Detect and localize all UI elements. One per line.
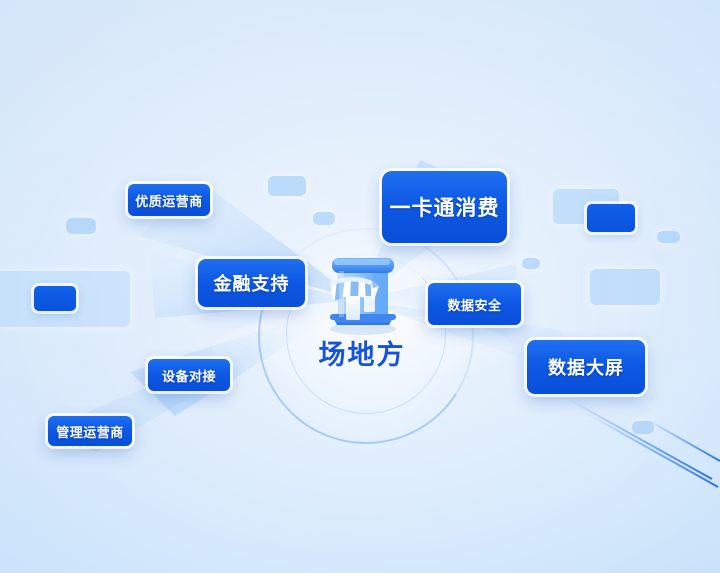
shop-icon — [316, 244, 408, 336]
infographic-canvas: 场地方 一卡通消费 金融支持 数据大屏 数据安全 优质运营商 设备对接 管理运营… — [0, 0, 720, 573]
card-label: 金融支持 — [214, 270, 290, 296]
card-label: 数据大屏 — [548, 354, 624, 380]
card-shuju-anquan[interactable]: 数据安全 — [428, 283, 521, 325]
decorative-rect-bottom-right — [632, 421, 654, 434]
center-label: 场地方 — [296, 333, 428, 372]
card-youzhi-yunyingshang[interactable]: 优质运营商 — [128, 184, 210, 216]
card-yikatong-xiaofei[interactable]: 一卡通消费 — [382, 171, 507, 243]
decorative-rect-mid-center — [313, 212, 335, 225]
card-label: 管理运营商 — [56, 422, 124, 441]
decorative-rect-top-center — [268, 176, 306, 196]
decorative-rect-right-lower — [590, 269, 660, 305]
decorative-rect-left-small — [66, 218, 96, 234]
decorative-accent-rect-right — [587, 204, 635, 232]
card-shuju-daping[interactable]: 数据大屏 — [527, 340, 645, 394]
card-label: 数据安全 — [447, 295, 501, 314]
decorative-rect-right-edge — [522, 258, 540, 269]
card-label: 一卡通消费 — [390, 192, 500, 222]
card-shebei-duijie[interactable]: 设备对接 — [148, 359, 230, 391]
decorative-rect-right-small — [657, 231, 680, 243]
decorative-streak-lines — [560, 391, 720, 501]
card-label: 优质运营商 — [135, 191, 203, 210]
decorative-accent-rect-left — [34, 286, 76, 311]
card-jinrong-zhichi[interactable]: 金融支持 — [198, 259, 305, 307]
card-label: 设备对接 — [162, 366, 216, 385]
card-guanli-yunyingshang[interactable]: 管理运营商 — [48, 416, 132, 446]
